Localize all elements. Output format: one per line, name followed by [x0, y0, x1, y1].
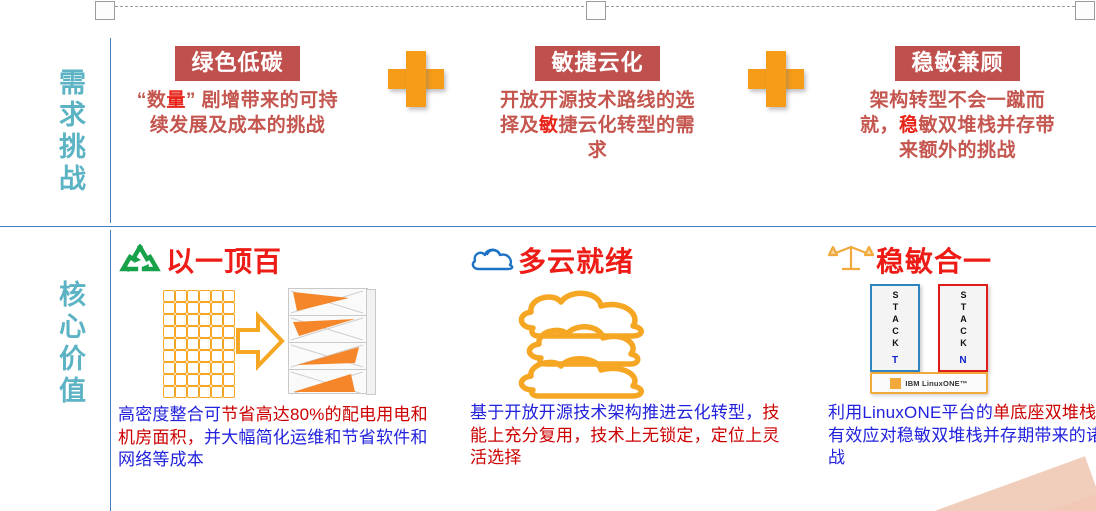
top-body-highlight: 稳 — [899, 115, 919, 136]
server-unit — [199, 386, 211, 398]
sidebar-item-core-value: 核心价值 — [28, 280, 84, 408]
server-unit — [223, 314, 235, 326]
server-unit — [163, 314, 175, 326]
server-unit — [199, 290, 211, 302]
server-unit — [163, 290, 175, 302]
server-unit — [199, 326, 211, 338]
server-unit — [223, 386, 235, 398]
bottom-heading-text: 稳敏合一 — [876, 240, 992, 280]
bottom-card-body-0: 高密度整合可节省高达80%的配电用电和机房面积，并大幅简化运维和节省软件和网络等… — [118, 404, 438, 472]
stacked-clouds-art — [470, 284, 790, 402]
server-unit — [163, 386, 175, 398]
server-unit — [187, 374, 199, 386]
plus-bar-vertical — [766, 51, 786, 107]
top-card-body-0: “数量” 剧增带来的可持续发展及成本的挑战 — [135, 89, 340, 138]
body-part-blue: 高密度整合可 — [118, 405, 221, 424]
server-unit — [223, 374, 235, 386]
server-unit — [223, 350, 235, 362]
server-unit — [175, 302, 187, 314]
bottom-card-one-beats-hundred: 以一顶百 — [118, 240, 438, 472]
recycle-icon — [118, 242, 162, 278]
vertical-divider-top — [110, 38, 111, 223]
server-unit — [175, 326, 187, 338]
server-unit — [175, 362, 187, 374]
server-unit — [211, 362, 223, 374]
top-card-body-1: 开放开源技术路线的选择及敏捷云化转型的需求 — [495, 89, 700, 163]
server-unit — [187, 290, 199, 302]
server-unit — [175, 350, 187, 362]
server-unit — [175, 386, 187, 398]
bottom-card-heading-2: 稳敏合一 — [828, 240, 1096, 280]
server-unit — [199, 302, 211, 314]
server-unit — [187, 326, 199, 338]
cloud-icon — [470, 242, 514, 278]
top-body-highlight: 量 — [166, 90, 186, 111]
server-unit — [223, 362, 235, 374]
top-card-body-2: 架构转型不会一蹴而就，稳敏双堆栈并存带来额外的挑战 — [855, 89, 1060, 163]
horizontal-divider — [0, 226, 1096, 227]
server-unit — [199, 362, 211, 374]
linuxone-platform-bar: IBM LinuxONE™ — [870, 372, 988, 394]
bottom-card-body-1: 基于开放开源技术架构推进云化转型，技能上充分复用，技术上无锁定，定位上灵活选择 — [470, 402, 790, 470]
bottom-heading-text: 以一顶百 — [166, 240, 282, 280]
rack-side-panel — [366, 289, 376, 395]
server-unit — [175, 374, 187, 386]
body-part-blue: 有效应对稳敏双堆栈并存期带来的诸多挑战 — [828, 426, 1096, 468]
badge-stable-agile-balance: 稳敏兼顾 — [895, 46, 1019, 81]
stack-box-n-word: STACK — [959, 290, 968, 350]
badge-green-low-carbon: 绿色低碳 — [175, 46, 299, 81]
bottom-card-heading-1: 多云就绪 — [470, 240, 790, 280]
server-unit — [187, 350, 199, 362]
rack-slot — [289, 370, 367, 396]
top-body-part: “数 — [137, 90, 167, 111]
top-card-stable-agile-balance: 稳敏兼顾 架构转型不会一蹴而就，稳敏双堆栈并存带来额外的挑战 — [855, 46, 1060, 163]
consolidated-rack — [288, 288, 368, 394]
linuxone-platform-label: IBM LinuxONE™ — [905, 379, 967, 388]
stack-box-t-tag: T — [892, 355, 898, 366]
plus-icon-1 — [388, 51, 444, 107]
server-unit — [163, 338, 175, 350]
server-unit — [175, 314, 187, 326]
transform-arrow-icon — [236, 310, 286, 372]
server-unit — [211, 290, 223, 302]
bottom-card-multicloud-ready: 多云就绪 基于开放开源技术架构推进云化转型，技能上充分复用，技术上无锁定，定位上… — [470, 240, 790, 470]
linuxone-logo-icon — [890, 378, 901, 389]
body-part-blue: 基于开放开源技术架构推进云化转型， — [470, 403, 762, 422]
server-unit — [211, 326, 223, 338]
dual-stack-art: STACK T STACK N IBM LinuxONE™ — [828, 284, 1096, 402]
server-unit — [211, 386, 223, 398]
server-unit — [175, 338, 187, 350]
bottom-card-stable-agile-unified: 稳敏合一 STACK T STACK N IBM LinuxONE™ 利用Lin… — [828, 240, 1096, 470]
server-unit — [211, 314, 223, 326]
top-body-highlight: 敏 — [539, 115, 559, 136]
sidebar-item-demand-challenge: 需求挑战 — [28, 68, 84, 196]
server-consolidation-art — [118, 284, 438, 404]
server-unit — [163, 350, 175, 362]
bottom-heading-text: 多云就绪 — [518, 240, 634, 280]
server-unit — [199, 374, 211, 386]
server-unit — [163, 302, 175, 314]
server-unit — [211, 350, 223, 362]
slide-canvas: 需求挑战 核心价值 绿色低碳 “数量” 剧增带来的可持续发展及成本的挑战 敏捷云… — [0, 0, 1096, 511]
balance-scale-icon — [828, 242, 872, 278]
server-unit — [163, 374, 175, 386]
top-body-part: 敏双堆栈并存带来额外的挑战 — [899, 115, 1055, 161]
rack-slot — [289, 289, 367, 316]
server-unit — [223, 290, 235, 302]
server-unit — [175, 290, 187, 302]
top-guide-bracket[interactable] — [95, 1, 1095, 19]
guide-handle-left[interactable] — [95, 1, 115, 20]
guide-handle-middle[interactable] — [586, 1, 606, 20]
server-unit — [223, 338, 235, 350]
stack-box-t: STACK T — [870, 284, 920, 372]
server-unit — [211, 338, 223, 350]
body-part-red: 单底座双堆栈模式， — [993, 403, 1096, 422]
rack-slot — [289, 343, 367, 370]
server-unit — [187, 362, 199, 374]
plus-bar-vertical — [406, 51, 426, 107]
guide-handle-right[interactable] — [1075, 1, 1095, 20]
server-unit — [163, 326, 175, 338]
server-unit — [223, 302, 235, 314]
server-unit — [199, 338, 211, 350]
stack-box-t-word: STACK — [891, 290, 900, 350]
body-part-blue: 利用LinuxONE平台的 — [828, 403, 993, 422]
server-unit — [199, 314, 211, 326]
server-unit — [211, 374, 223, 386]
server-unit — [199, 350, 211, 362]
stack-box-n: STACK N — [938, 284, 988, 372]
server-unit-grid — [163, 290, 233, 396]
server-unit — [187, 302, 199, 314]
badge-agile-cloud: 敏捷云化 — [535, 46, 659, 81]
stack-box-n-tag: N — [959, 355, 966, 366]
server-unit — [187, 338, 199, 350]
server-unit — [163, 362, 175, 374]
server-unit — [211, 302, 223, 314]
bottom-card-heading-0: 以一顶百 — [118, 240, 438, 280]
bottom-card-body-2: 利用LinuxONE平台的单底座双堆栈模式，有效应对稳敏双堆栈并存期带来的诸多挑… — [828, 402, 1096, 470]
top-card-agile-cloud: 敏捷云化 开放开源技术路线的选择及敏捷云化转型的需求 — [495, 46, 700, 163]
server-unit — [187, 314, 199, 326]
plus-icon-2 — [748, 51, 804, 107]
top-card-green-low-carbon: 绿色低碳 “数量” 剧增带来的可持续发展及成本的挑战 — [135, 46, 340, 139]
server-unit — [187, 386, 199, 398]
top-body-part: 捷云化转型的需求 — [559, 115, 696, 161]
vertical-divider-bottom — [110, 230, 111, 511]
server-unit — [223, 326, 235, 338]
rack-slot — [289, 316, 367, 343]
